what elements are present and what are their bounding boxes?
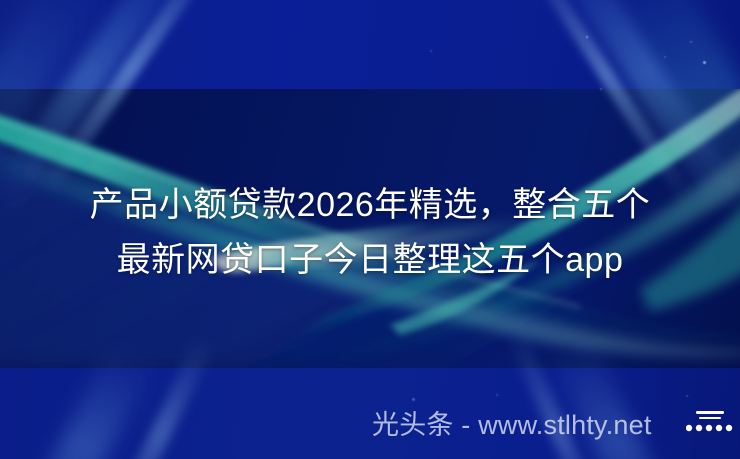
- sparkle-icon: [664, 56, 666, 58]
- watermark-text: 光头条 - www.stlhty.net: [372, 408, 652, 442]
- sparkle-icon: [412, 398, 415, 401]
- sparkle-icon: [686, 395, 688, 397]
- headline-line-2: 最新网贷口子今日整理这五个app: [0, 233, 740, 288]
- sparkle-icon: [690, 41, 692, 43]
- sparkle-icon: [496, 394, 498, 396]
- dots-and-bar-glyph-icon: [686, 410, 734, 440]
- headline-text: 产品小额贷款2026年精选，整合五个 最新网贷口子今日整理这五个app: [0, 178, 740, 288]
- headline-line-1: 产品小额贷款2026年精选，整合五个: [0, 178, 740, 233]
- sparkle-icon: [430, 50, 432, 52]
- sparkle-icon: [600, 88, 602, 90]
- sparkle-icon: [586, 36, 588, 38]
- sparkle-icon: [703, 61, 706, 64]
- background-band-top: [0, 0, 740, 89]
- cover-image-canvas: 产品小额贷款2026年精选，整合五个 最新网贷口子今日整理这五个app 光头条 …: [0, 0, 740, 459]
